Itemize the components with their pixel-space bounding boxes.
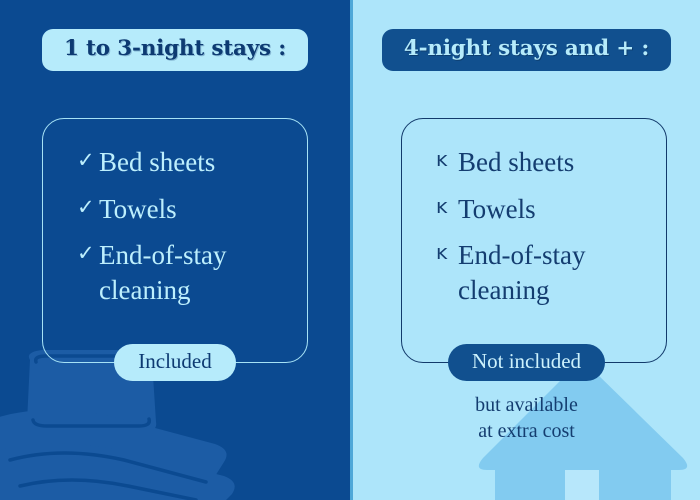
footnote-line-2: at extra cost xyxy=(353,418,700,444)
list-item: ĸ End-of-stay cleaning xyxy=(436,238,666,307)
list-item-label: Bed sheets xyxy=(458,145,574,180)
left-status-container: Included xyxy=(0,344,350,381)
right-footnote: but available at extra cost xyxy=(353,392,700,445)
right-exclusions-list: ĸ Bed sheets ĸ Towels ĸ End-of-stay clea… xyxy=(402,119,666,307)
panel-short-stays: 1 to 3-night stays : ✓ Bed sheets ✓ Towe… xyxy=(0,0,350,500)
right-status-container: Not included xyxy=(353,344,700,381)
left-title-container: 1 to 3-night stays : xyxy=(0,29,350,71)
list-item: ĸ Bed sheets xyxy=(436,145,666,180)
left-inclusions-list: ✓ Bed sheets ✓ Towels ✓ End-of-stay clea… xyxy=(43,119,307,307)
right-panel-title: 4-night stays and + : xyxy=(382,29,671,71)
left-inclusions-card: ✓ Bed sheets ✓ Towels ✓ End-of-stay clea… xyxy=(42,118,308,363)
status-badge-not-included: Not included xyxy=(448,344,605,381)
list-item-label: Towels xyxy=(99,192,177,227)
stay-inclusions-infographic: 1 to 3-night stays : ✓ Bed sheets ✓ Towe… xyxy=(0,0,700,500)
check-icon: ✓ xyxy=(77,192,99,223)
list-item-label: End-of-stay cleaning xyxy=(99,238,299,307)
right-exclusions-card: ĸ Bed sheets ĸ Towels ĸ End-of-stay clea… xyxy=(401,118,667,363)
right-title-container: 4-night stays and + : xyxy=(353,29,700,71)
list-item: ✓ Towels xyxy=(77,192,307,227)
cross-icon: ĸ xyxy=(436,145,458,175)
panel-long-stays: 4-night stays and + : ĸ Bed sheets ĸ Tow… xyxy=(350,0,700,500)
left-panel-title: 1 to 3-night stays : xyxy=(42,29,308,71)
list-item-label: End-of-stay cleaning xyxy=(458,238,658,307)
cross-icon: ĸ xyxy=(436,192,458,222)
list-item: ✓ End-of-stay cleaning xyxy=(77,238,307,307)
footnote-line-1: but available xyxy=(353,392,700,418)
list-item-label: Towels xyxy=(458,192,536,227)
cross-icon: ĸ xyxy=(436,238,458,268)
list-item: ĸ Towels xyxy=(436,192,666,227)
check-icon: ✓ xyxy=(77,145,99,176)
check-icon: ✓ xyxy=(77,238,99,269)
list-item: ✓ Bed sheets xyxy=(77,145,307,180)
status-badge-included: Included xyxy=(114,344,235,381)
list-item-label: Bed sheets xyxy=(99,145,215,180)
